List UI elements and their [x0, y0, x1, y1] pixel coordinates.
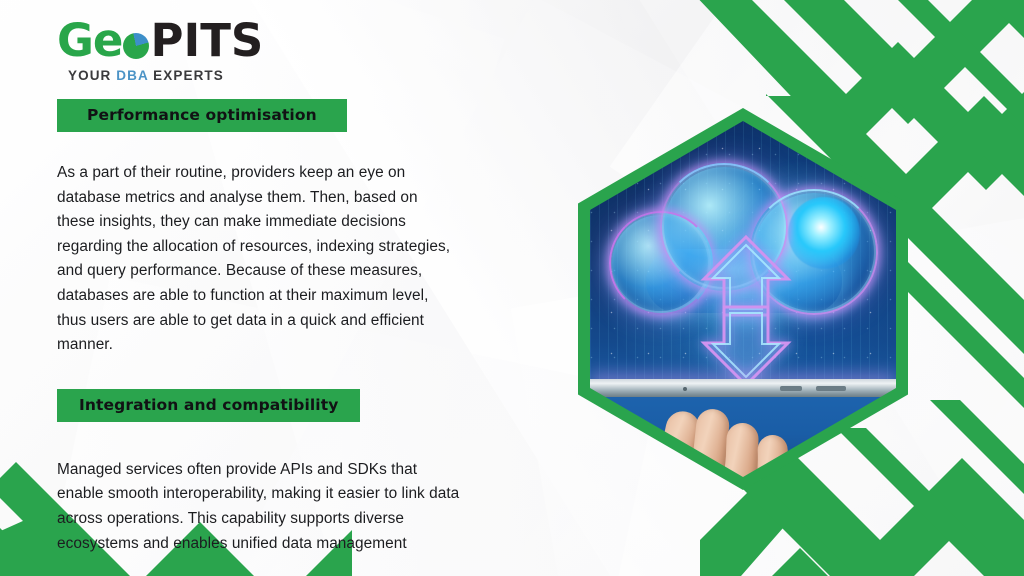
brand-tagline: YOUR DBA EXPERTS [68, 68, 263, 83]
logo-text-geo: Ge [57, 18, 122, 64]
brand-logo: Ge PITS YOUR DBA EXPERTS [57, 18, 263, 83]
section-heading-wrap-2: Integration and compatibility [57, 389, 467, 422]
pie-chart-icon [123, 33, 149, 59]
tagline-dba: DBA [116, 68, 148, 83]
tablet-microphone [683, 387, 687, 391]
section-badge-performance-optimisation: Performance optimisation [57, 99, 347, 132]
logo-text-pits: PITS [150, 18, 263, 64]
tablet-volume-button [780, 386, 802, 391]
photo-background-lower [590, 397, 896, 477]
hand-finger [757, 434, 789, 477]
section-heading-wrap-1: Performance optimisation [57, 99, 467, 132]
tagline-prefix: YOUR [68, 68, 116, 83]
tagline-suffix: EXPERTS [148, 68, 224, 83]
slide-canvas: Ge PITS YOUR DBA EXPERTS Performance opt… [0, 0, 1024, 576]
content-column: Performance optimisation As a part of th… [57, 99, 467, 556]
tablet-power-button [816, 386, 846, 391]
hexagon-image-frame [578, 108, 908, 490]
hexagon-image-content [590, 121, 896, 477]
hand-finger [725, 422, 759, 477]
section-body-performance-optimisation: As a part of their routine, providers ke… [57, 161, 457, 358]
section-body-integration-and-compatibility: Managed services often provide APIs and … [57, 458, 465, 556]
cloud-sync-arrows [698, 231, 794, 391]
tablet-device-edge [590, 379, 896, 399]
section-badge-integration-and-compatibility: Integration and compatibility [57, 389, 360, 422]
